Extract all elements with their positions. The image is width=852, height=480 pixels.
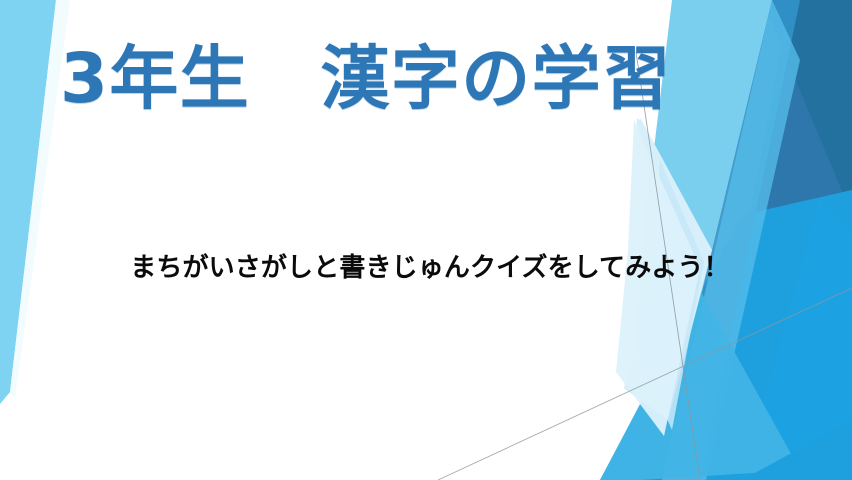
slide-subtitle: まちがいさがしと書きじゅんクイズをしてみよう！ <box>60 252 800 286</box>
page-title: 3年生 漢字の学習 <box>60 42 760 117</box>
slide-canvas: 3年生 漢字の学習 まちがいさがしと書きじゅんクイズをしてみよう！ <box>0 0 852 480</box>
subtitle-placeholder[interactable]: まちがいさがしと書きじゅんクイズをしてみよう！ <box>60 252 800 286</box>
title-placeholder[interactable]: 3年生 漢字の学習 <box>60 42 760 117</box>
